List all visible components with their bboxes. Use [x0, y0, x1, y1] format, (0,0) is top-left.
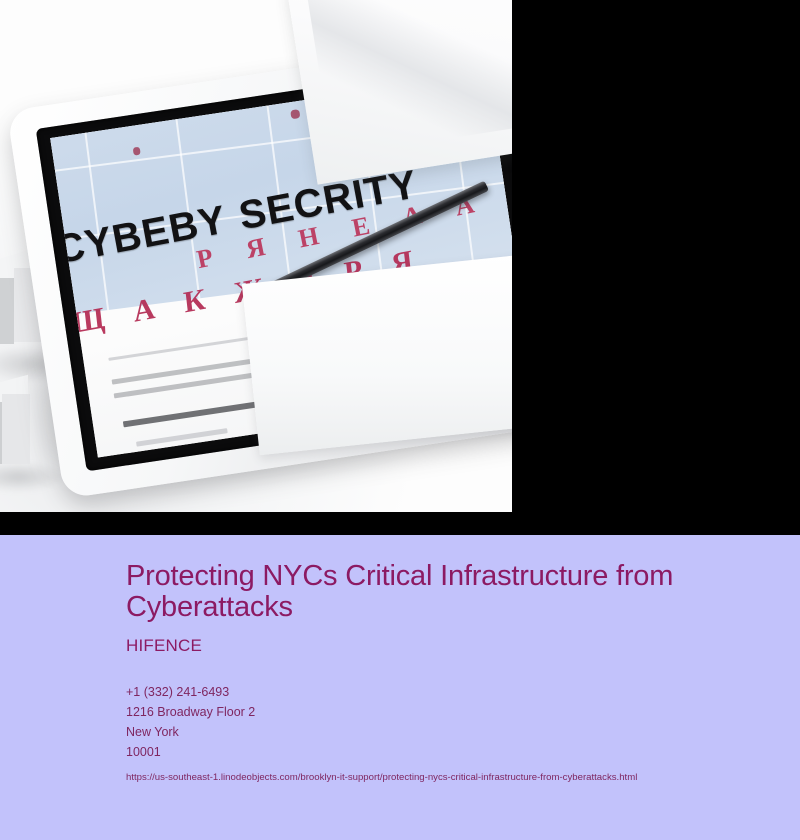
cube-face-right	[2, 394, 30, 464]
page-url[interactable]: https://us-southeast-1.linodeobjects.com…	[126, 771, 770, 784]
info-panel: Protecting NYCs Critical Infrastructure …	[0, 535, 800, 840]
hero-band: Р Я Н Е А А CYBEBYSECRITY Щ А К Ж П Р Я	[0, 0, 800, 535]
paper-fold-crease	[306, 0, 512, 157]
hero-gutter-bottom	[0, 512, 512, 535]
cube-face-left	[0, 278, 14, 344]
ink-fleck	[133, 146, 141, 155]
brand-name: HIFENCE	[126, 636, 770, 656]
contact-block: +1 (332) 241-6493 1216 Broadway Floor 2 …	[126, 682, 770, 763]
contact-city: New York	[126, 722, 770, 742]
page-root: Р Я Н Е А А CYBEBYSECRITY Щ А К Ж П Р Я	[0, 0, 800, 840]
ink-fleck	[290, 109, 300, 119]
hero-gutter-right	[512, 0, 800, 535]
under-paper-sheet	[242, 253, 512, 455]
grid-rule	[82, 108, 110, 309]
info-content: Protecting NYCs Critical Infrastructure …	[126, 561, 770, 784]
contact-phone: +1 (332) 241-6493	[126, 682, 770, 702]
document-text-line	[123, 401, 261, 427]
page-title: Protecting NYCs Critical Infrastructure …	[126, 561, 726, 624]
document-text-line	[136, 428, 228, 447]
contact-zipcode: 10001	[126, 742, 770, 762]
contact-street: 1216 Broadway Floor 2	[126, 702, 770, 722]
grid-rule	[173, 97, 201, 298]
hero-photo: Р Я Н Е А А CYBEBYSECRITY Щ А К Ж П Р Я	[0, 0, 512, 512]
